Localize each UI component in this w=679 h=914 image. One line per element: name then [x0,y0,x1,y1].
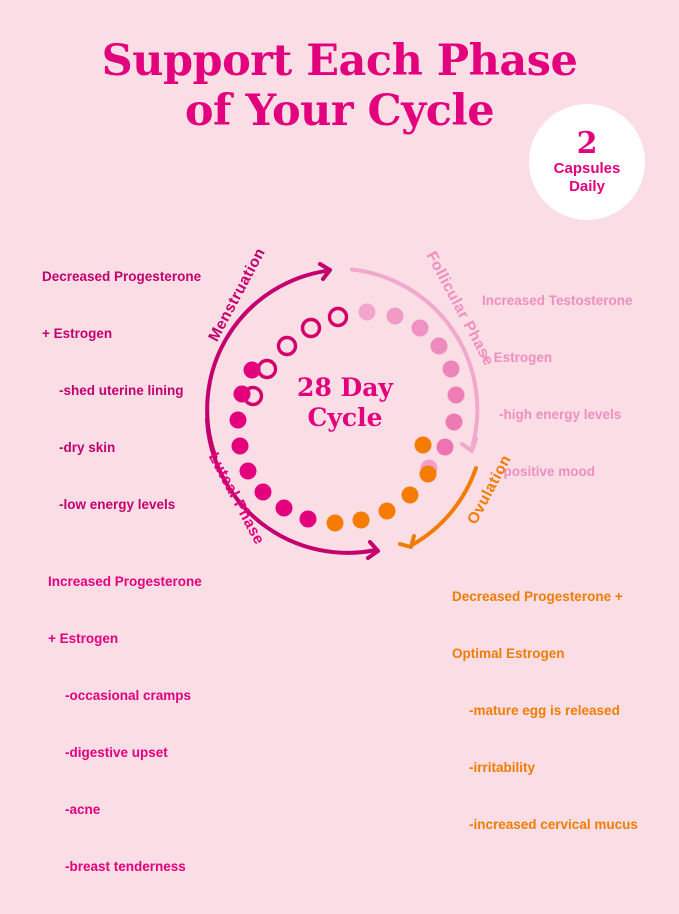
arc-ovulation-arrowhead [400,536,414,547]
day-dot-ovulation [402,487,419,504]
callout-menstruation: Decreased Progesterone + Estrogen -shed … [42,229,201,552]
callout-luteal: Increased Progesterone + Estrogen -occas… [48,534,202,914]
callout-luteal-item: -acne [48,800,202,819]
callout-luteal-item: -occasional cramps [48,686,202,705]
badge-line-1: Capsules [554,160,621,178]
day-dot-follicular [387,308,404,325]
cycle-center-line-2: Cycle [307,403,382,432]
callout-ovulation-item: -irritability [452,758,638,777]
callout-ovulation: Decreased Progesterone + Optimal Estroge… [452,549,638,872]
callout-ovulation-item: -mature egg is released [452,701,638,720]
badge-line-2: Daily [569,178,605,196]
day-dot-ovulation [415,437,432,454]
day-dot-luteal [240,463,257,480]
day-dot-follicular [359,304,376,321]
capsules-daily-badge: 2 Capsules Daily [529,104,645,220]
callout-ovulation-head-1: Decreased Progesterone + [452,587,638,606]
callout-ovulation-head-2: Optimal Estrogen [452,644,638,663]
cycle-center-line-1: 28 Day [297,373,393,402]
day-dot-follicular [412,320,429,337]
day-dot-menstruation [330,309,347,326]
arc-follicular-arrowhead [462,439,476,451]
infographic-canvas: Support Each Phase of Your Cycle 2 Capsu… [0,0,679,679]
callout-ovulation-item: -increased cervical mucus [452,815,638,834]
callout-menstruation-head-2: + Estrogen [42,324,201,343]
callout-luteal-item: -digestive upset [48,743,202,762]
callout-luteal-item: -breast tenderness [48,857,202,876]
day-dot-luteal [300,511,317,528]
day-dot-luteal [255,484,272,501]
day-dot-ovulation [327,515,344,532]
day-dot-luteal [276,500,293,517]
cycle-center-label: 28 Day Cycle [180,373,510,433]
badge-number: 2 [577,128,598,160]
callout-luteal-head-2: + Estrogen [48,629,202,648]
day-dot-menstruation [279,338,296,355]
callout-menstruation-item: -shed uterine lining [42,381,201,400]
callout-menstruation-item: -low energy levels [42,495,201,514]
day-dot-ovulation [353,512,370,529]
day-dot-ovulation [379,503,396,520]
day-dot-luteal [232,438,249,455]
callout-menstruation-head-1: Decreased Progesterone [42,267,201,286]
day-dot-ovulation [420,466,437,483]
day-dot-follicular [437,439,454,456]
day-dot-menstruation [303,320,320,337]
callout-menstruation-item: -dry skin [42,438,201,457]
callout-luteal-head-1: Increased Progesterone [48,572,202,591]
title-line-1: Support Each Phase [0,36,679,86]
day-dot-follicular [431,338,448,355]
